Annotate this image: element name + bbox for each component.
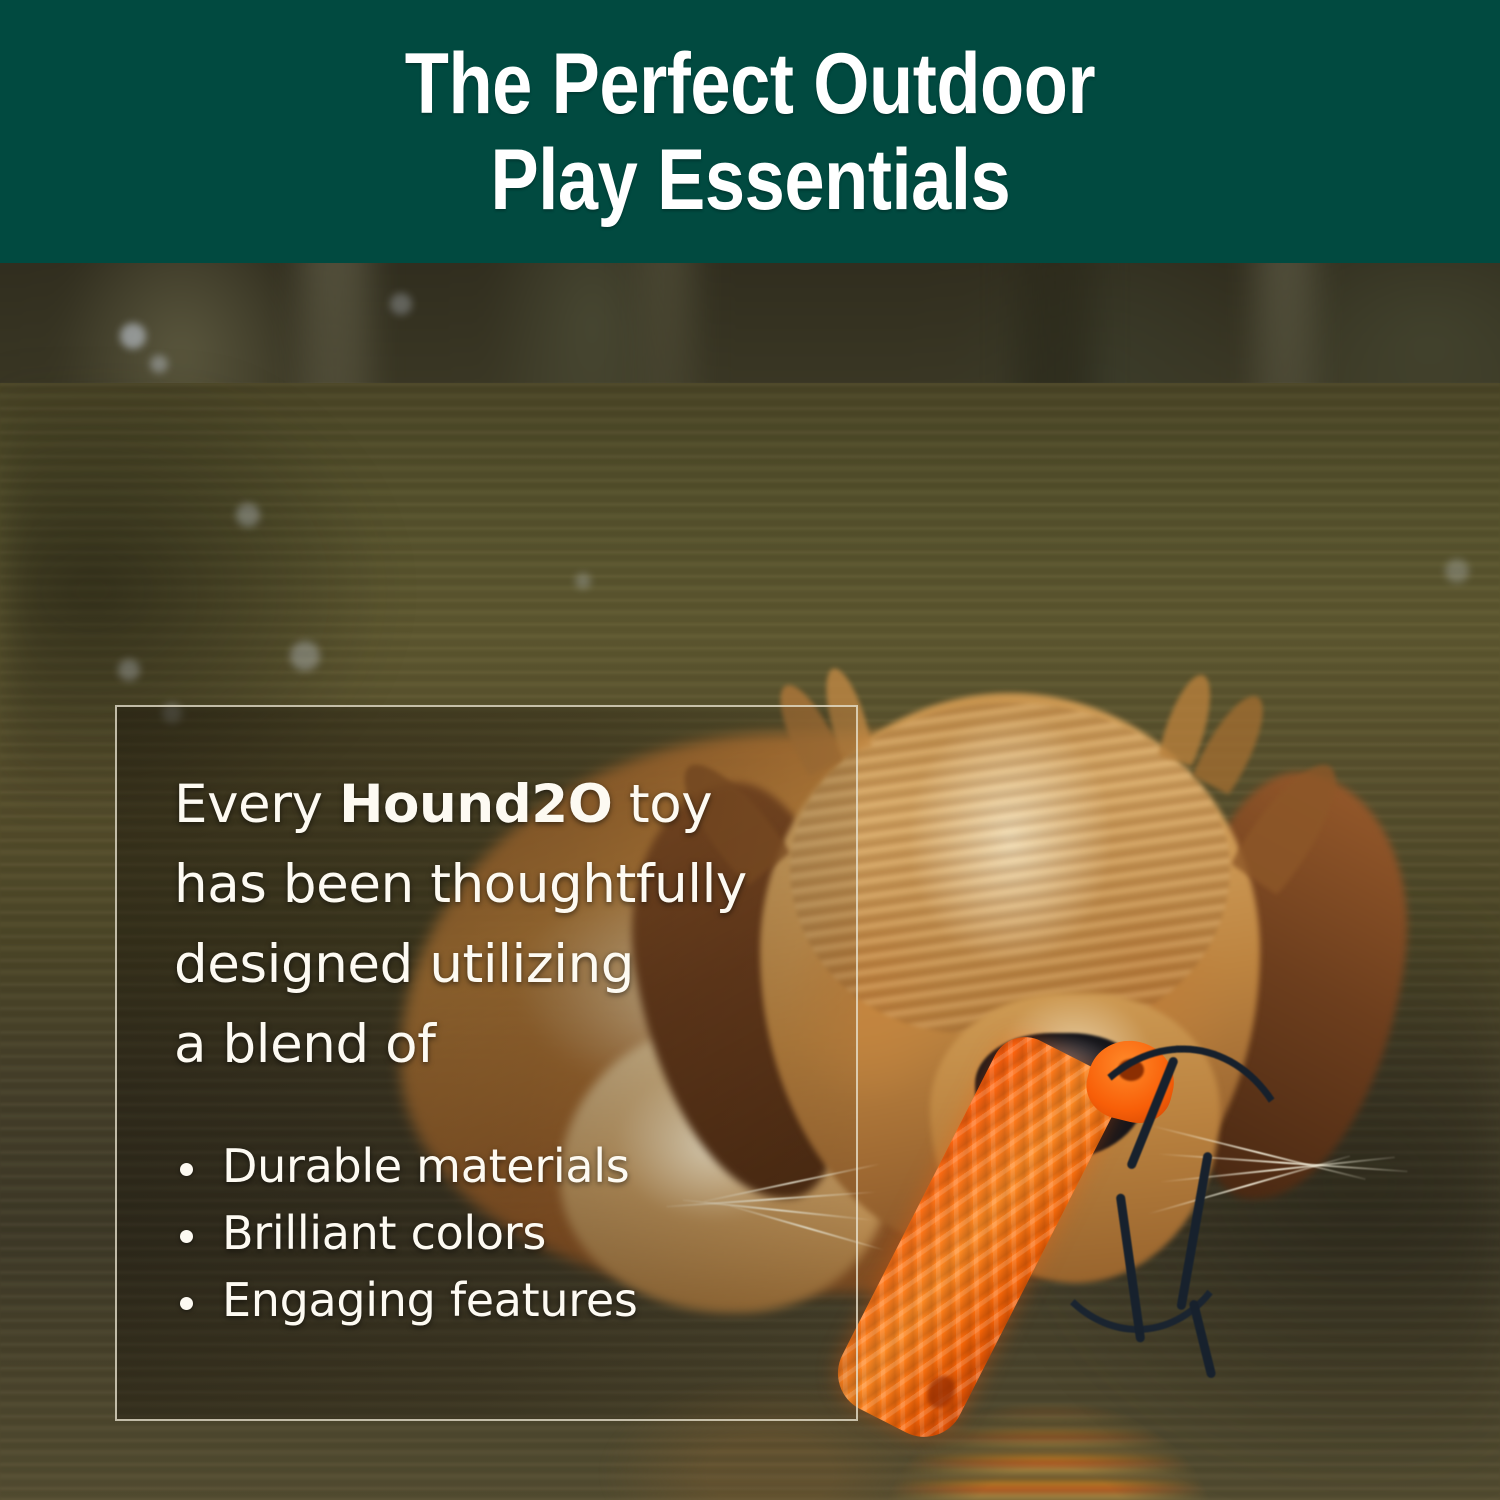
bokeh-droplet — [1445, 559, 1469, 583]
panel-lead-line-3: designed utilizing — [174, 925, 856, 1005]
bokeh-droplet — [290, 641, 320, 671]
bokeh-droplet — [236, 503, 260, 527]
panel-lead-line-4: a blend of — [174, 1005, 856, 1085]
benefits-list: Durable materials Brilliant colors Engag… — [174, 1133, 856, 1334]
bokeh-droplet — [575, 573, 591, 589]
bokeh-droplet — [118, 659, 140, 681]
orange-chew-toy — [880, 1023, 1310, 1463]
panel-lead-line-1: Every Hound2O toy — [174, 765, 856, 845]
lead-prefix: Every — [174, 774, 339, 835]
brand-name: Hound2O — [339, 774, 612, 835]
list-item: Engaging features — [174, 1267, 856, 1334]
bokeh-droplet — [390, 293, 412, 315]
marketing-image: Every Hound2O toy has been thoughtfully … — [0, 0, 1500, 1500]
benefits-panel: Every Hound2O toy has been thoughtfully … — [115, 705, 858, 1421]
header-banner: The Perfect Outdoor Play Essentials — [0, 0, 1500, 263]
bokeh-droplet — [150, 355, 168, 373]
page-title-line-2: Play Essentials — [490, 132, 1010, 228]
lead-suffix: toy — [612, 774, 712, 835]
panel-lead-line-2: has been thoughtfully — [174, 845, 856, 925]
list-item: Brilliant colors — [174, 1200, 856, 1267]
page-title-line-1: The Perfect Outdoor — [405, 36, 1095, 132]
bokeh-droplet — [120, 323, 146, 349]
list-item: Durable materials — [174, 1133, 856, 1200]
